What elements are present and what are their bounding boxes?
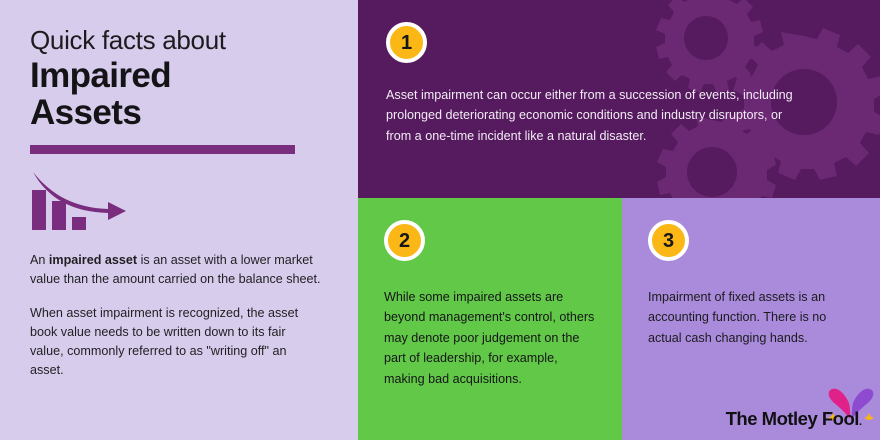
logo-trademark-dot: .	[859, 416, 862, 430]
page-title: Impaired Assets	[30, 57, 328, 131]
page-title-line-1: Impaired	[30, 57, 328, 94]
fact-text-3: Impairment of fixed assets is an account…	[648, 287, 844, 348]
intro-paragraph-2: When asset impairment is recognized, the…	[30, 304, 322, 381]
fact-panel-3: 3 Impairment of fixed assets is an accou…	[622, 198, 880, 440]
logo-wordmark: The Motley Fool	[726, 410, 859, 431]
intro-paragraph-1-bold: impaired asset	[49, 253, 137, 267]
fact-badge-2: 2	[384, 220, 425, 261]
page-title-line-2: Assets	[30, 94, 328, 131]
intro-paragraph-1-prefix: An	[30, 253, 49, 267]
fact-badge-3: 3	[648, 220, 689, 261]
fact-text-2: While some impaired assets are beyond ma…	[384, 287, 599, 389]
kicker-text: Quick facts about	[30, 26, 328, 54]
title-divider-rule	[30, 145, 295, 154]
fact-badge-1: 1	[386, 22, 427, 63]
fact-text-1: Asset impairment can occur either from a…	[386, 85, 806, 146]
fact-panel-2-content: 2 While some impaired assets are beyond …	[358, 198, 622, 389]
fact-panel-1: 1 Asset impairment can occur either from…	[358, 0, 880, 198]
infographic-root: Quick facts about Impaired Assets An imp…	[0, 0, 880, 440]
fact-panel-3-content: 3 Impairment of fixed assets is an accou…	[622, 198, 880, 348]
intro-paragraph-1: An impaired asset is an asset with a low…	[30, 251, 322, 289]
left-intro-panel: Quick facts about Impaired Assets An imp…	[0, 0, 358, 440]
fact-panel-2: 2 While some impaired assets are beyond …	[358, 198, 622, 440]
declining-bar-chart-icon	[30, 170, 135, 232]
fact-panel-1-content: 1 Asset impairment can occur either from…	[358, 0, 880, 146]
motley-fool-logo: The Motley Fool .	[726, 410, 862, 431]
